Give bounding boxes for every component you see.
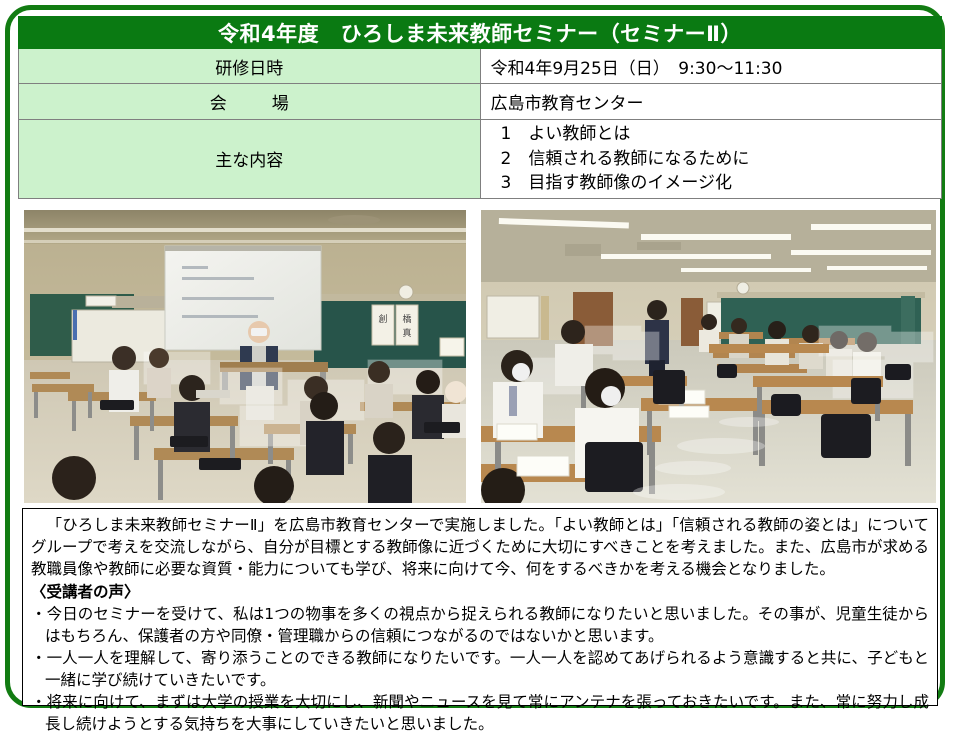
label-venue-text: 会 場 <box>196 89 303 114</box>
group-work-illustration <box>481 210 936 503</box>
label-training-datetime: 研修日時 <box>19 49 481 84</box>
list-item: 1 よい教師とは <box>501 122 942 147</box>
page-title: 令和4年度 ひろしま未来教師セミナー（セミナーⅡ） <box>19 17 942 49</box>
value-main-content: 1 よい教師とは 2 信頼される教師になるために 3 目指す教師像のイメージ化 <box>480 120 942 199</box>
value-training-datetime: 令和4年9月25日（日） 9:30〜11:30 <box>480 49 942 84</box>
lecture-hall-photo: 創 橋 真 <box>24 210 466 503</box>
voices-heading: 〈受講者の声〉 <box>31 581 929 603</box>
table-row: 主な内容 1 よい教師とは 2 信頼される教師になるために 3 目指す教師像のイ… <box>19 120 942 199</box>
voice-item: ・一人一人を理解して、寄り添うことのできる教師になりたいです。一人一人を認めてあ… <box>31 647 929 691</box>
summary-paragraph: 「ひろしま未来教師セミナーⅡ」を広島市教育センターで実施しました。「よい教師とは… <box>31 514 929 580</box>
title-row: 令和4年度 ひろしま未来教師セミナー（セミナーⅡ） <box>19 17 942 49</box>
label-venue: 会 場 <box>19 84 481 120</box>
list-item: 2 信頼される教師になるために <box>501 147 942 172</box>
svg-text:真: 真 <box>402 327 411 339</box>
svg-text:創: 創 <box>378 313 387 325</box>
voice-item: ・将来に向けて、まずは大学の授業を大切にし、新聞やニュースを見て常にアンテナを張… <box>31 691 929 735</box>
table-row: 会 場 広島市教育センター <box>19 84 942 120</box>
value-venue: 広島市教育センター <box>480 84 942 120</box>
description-box: 「ひろしま未来教師セミナーⅡ」を広島市教育センターで実施しました。「よい教師とは… <box>22 508 938 706</box>
photo-gallery: 創 橋 真 <box>24 210 936 503</box>
group-work-photo <box>481 210 936 503</box>
label-main-content: 主な内容 <box>19 120 481 199</box>
lecture-hall-illustration: 創 橋 真 <box>24 210 466 503</box>
seminar-info-table: 令和4年度 ひろしま未来教師セミナー（セミナーⅡ） 研修日時 令和4年9月25日… <box>18 16 942 199</box>
main-content-list: 1 よい教師とは 2 信頼される教師になるために 3 目指す教師像のイメージ化 <box>491 120 942 198</box>
svg-text:橋: 橋 <box>402 313 411 325</box>
seminar-report-page: 令和4年度 ひろしま未来教師セミナー（セミナーⅡ） 研修日時 令和4年9月25日… <box>0 0 960 720</box>
table-row: 研修日時 令和4年9月25日（日） 9:30〜11:30 <box>19 49 942 84</box>
list-item: 3 目指す教師像のイメージ化 <box>501 171 942 196</box>
voice-item: ・今日のセミナーを受けて、私は1つの物事を多くの視点から捉えられる教師になりたい… <box>31 603 929 647</box>
